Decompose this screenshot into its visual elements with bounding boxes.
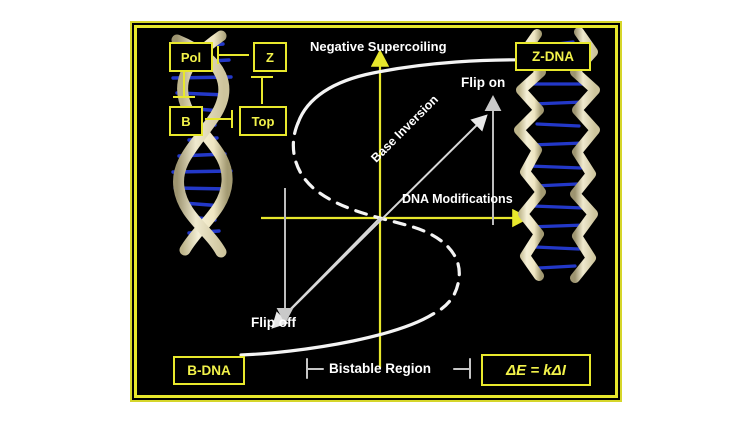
network-node-b[interactable]: B	[169, 106, 203, 136]
edge-top-to-z-bar	[251, 76, 273, 78]
figure-frame: Pol Z B Top Negative Sup	[134, 25, 618, 398]
x-axis-label: DNA Modifications	[402, 193, 513, 206]
edge-pol-to-b-line	[183, 70, 185, 98]
edge-pol-to-z-bar	[217, 46, 219, 64]
z-dna-label: Z-DNA	[515, 42, 591, 71]
figure-root: Pol Z B Top Negative Sup	[0, 0, 750, 422]
y-axis-label: Negative Supercoiling	[310, 40, 447, 53]
network-node-z[interactable]: Z	[253, 42, 287, 72]
network-node-b-label: B	[181, 114, 190, 129]
z-dna-label-text: Z-DNA	[532, 49, 574, 64]
network-node-top-label: Top	[252, 114, 275, 129]
network-node-pol[interactable]: Pol	[169, 42, 213, 72]
b-dna-label: B-DNA	[173, 356, 245, 385]
network-node-z-label: Z	[266, 50, 274, 65]
regulatory-network: Pol Z B Top	[165, 42, 291, 134]
edge-pol-to-z-line	[217, 54, 249, 56]
axis-group	[261, 58, 521, 368]
bistable-region-label: Bistable Region	[329, 362, 431, 376]
edge-b-to-top-line	[205, 118, 233, 120]
energy-equation: ΔE = kΔI	[481, 354, 591, 386]
flip-off-label: Flip off	[251, 316, 296, 330]
edge-top-to-z-line	[261, 76, 263, 104]
edge-pol-to-b-bar	[173, 96, 195, 98]
flip-on-label: Flip on	[461, 76, 505, 90]
network-node-top[interactable]: Top	[239, 106, 287, 136]
b-dna-label-text: B-DNA	[187, 363, 231, 378]
energy-equation-text: ΔE = kΔI	[506, 362, 566, 379]
network-node-pol-label: Pol	[181, 50, 201, 65]
edge-b-to-top-bar	[231, 110, 233, 128]
